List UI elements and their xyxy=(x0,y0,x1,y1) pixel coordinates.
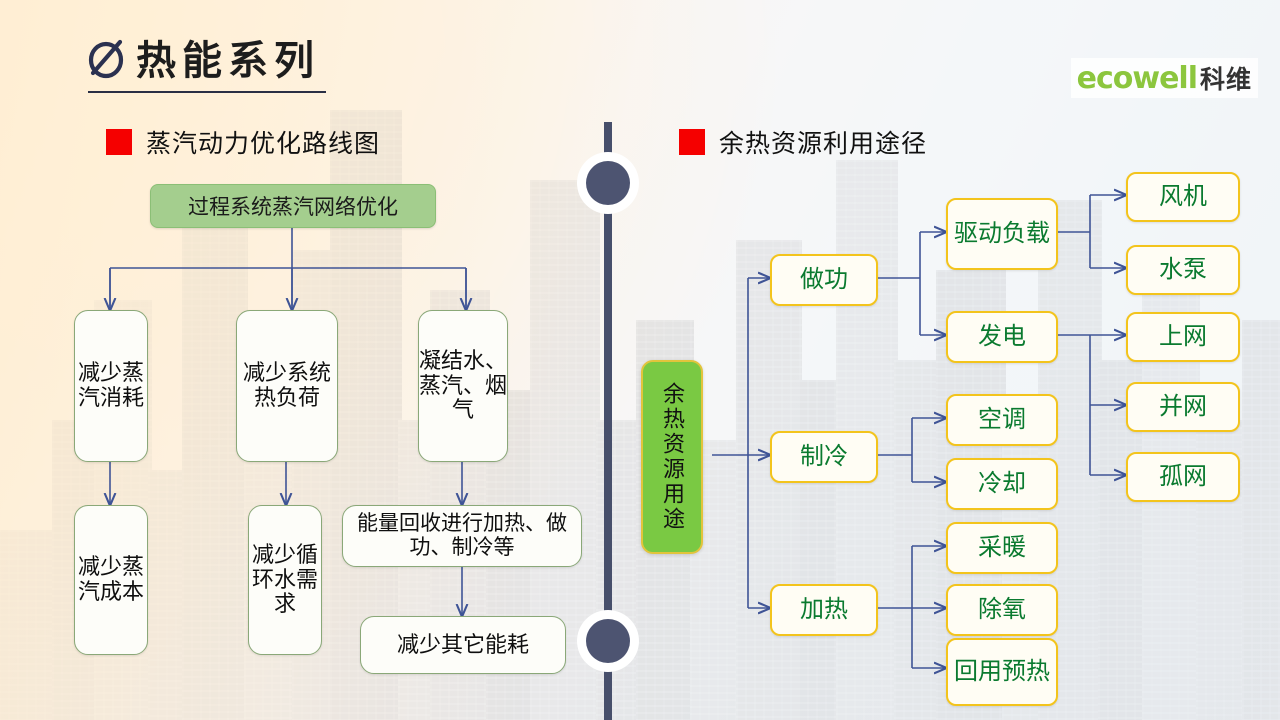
right-leaf-fengji[interactable]: 风机 xyxy=(1126,172,1240,222)
right-leaf-shuibeng[interactable]: 水泵 xyxy=(1126,245,1240,295)
left-flow-node-4[interactable]: 减少蒸汽成本 xyxy=(74,505,148,655)
background-white-overlay xyxy=(0,0,1280,720)
left-flow-node-5[interactable]: 减少循环水需求 xyxy=(248,505,322,655)
left-flow-root[interactable]: 过程系统蒸汽网络优化 xyxy=(150,184,436,228)
page-title: 热能系列 xyxy=(136,28,320,86)
right-child-cainuan[interactable]: 采暖 xyxy=(946,522,1058,574)
divider-node-top xyxy=(577,152,639,214)
ecowell-logo: ecowell 科维 xyxy=(1071,58,1258,98)
right-branch-zuogong[interactable]: 做功 xyxy=(770,254,878,306)
left-flow-node-3[interactable]: 凝结水、蒸汽、烟气 xyxy=(418,310,508,462)
right-leaf-guwang[interactable]: 孤网 xyxy=(1126,452,1240,502)
logo-chinese-text: 科维 xyxy=(1200,60,1252,96)
right-leaf-shangwang[interactable]: 上网 xyxy=(1126,312,1240,362)
section-title-left: 蒸汽动力优化路线图 xyxy=(146,124,380,160)
right-child-kongtiao[interactable]: 空调 xyxy=(946,394,1058,446)
right-branch-jiare[interactable]: 加热 xyxy=(770,584,878,636)
right-child-huiyongyure[interactable]: 回用预热 xyxy=(946,638,1058,706)
logo-latin-text: ecowell xyxy=(1077,61,1197,96)
left-flow-node-1[interactable]: 减少蒸汽消耗 xyxy=(74,310,148,462)
right-child-fadian[interactable]: 发电 xyxy=(946,311,1058,363)
right-child-lengque[interactable]: 冷却 xyxy=(946,458,1058,510)
section-heading-right: 余热资源利用途径 xyxy=(679,124,927,160)
right-leaf-bingwang[interactable]: 并网 xyxy=(1126,382,1240,432)
divider-node-bottom xyxy=(577,610,639,672)
section-title-right: 余热资源利用途径 xyxy=(719,124,927,160)
section-heading-left: 蒸汽动力优化路线图 xyxy=(106,124,380,160)
right-child-qudongfuzai[interactable]: 驱动负载 xyxy=(946,198,1058,270)
right-flow-root[interactable]: 余热资源用途 xyxy=(641,360,703,554)
left-flow-node-2[interactable]: 减少系统热负荷 xyxy=(236,310,338,462)
title-underline xyxy=(88,91,326,93)
left-flow-node-6[interactable]: 能量回收进行加热、做功、制冷等 xyxy=(342,505,582,567)
slide-canvas: 热能系列 ecowell 科维 蒸汽动力优化路线图 余热资源利用途径 xyxy=(0,0,1280,720)
left-flow-node-7[interactable]: 减少其它能耗 xyxy=(360,616,566,674)
null-symbol-icon xyxy=(86,34,128,80)
right-child-chuyang[interactable]: 除氧 xyxy=(946,584,1058,636)
red-square-marker-right xyxy=(679,129,705,155)
red-square-marker-left xyxy=(106,129,132,155)
right-branch-zhileng[interactable]: 制冷 xyxy=(770,431,878,483)
